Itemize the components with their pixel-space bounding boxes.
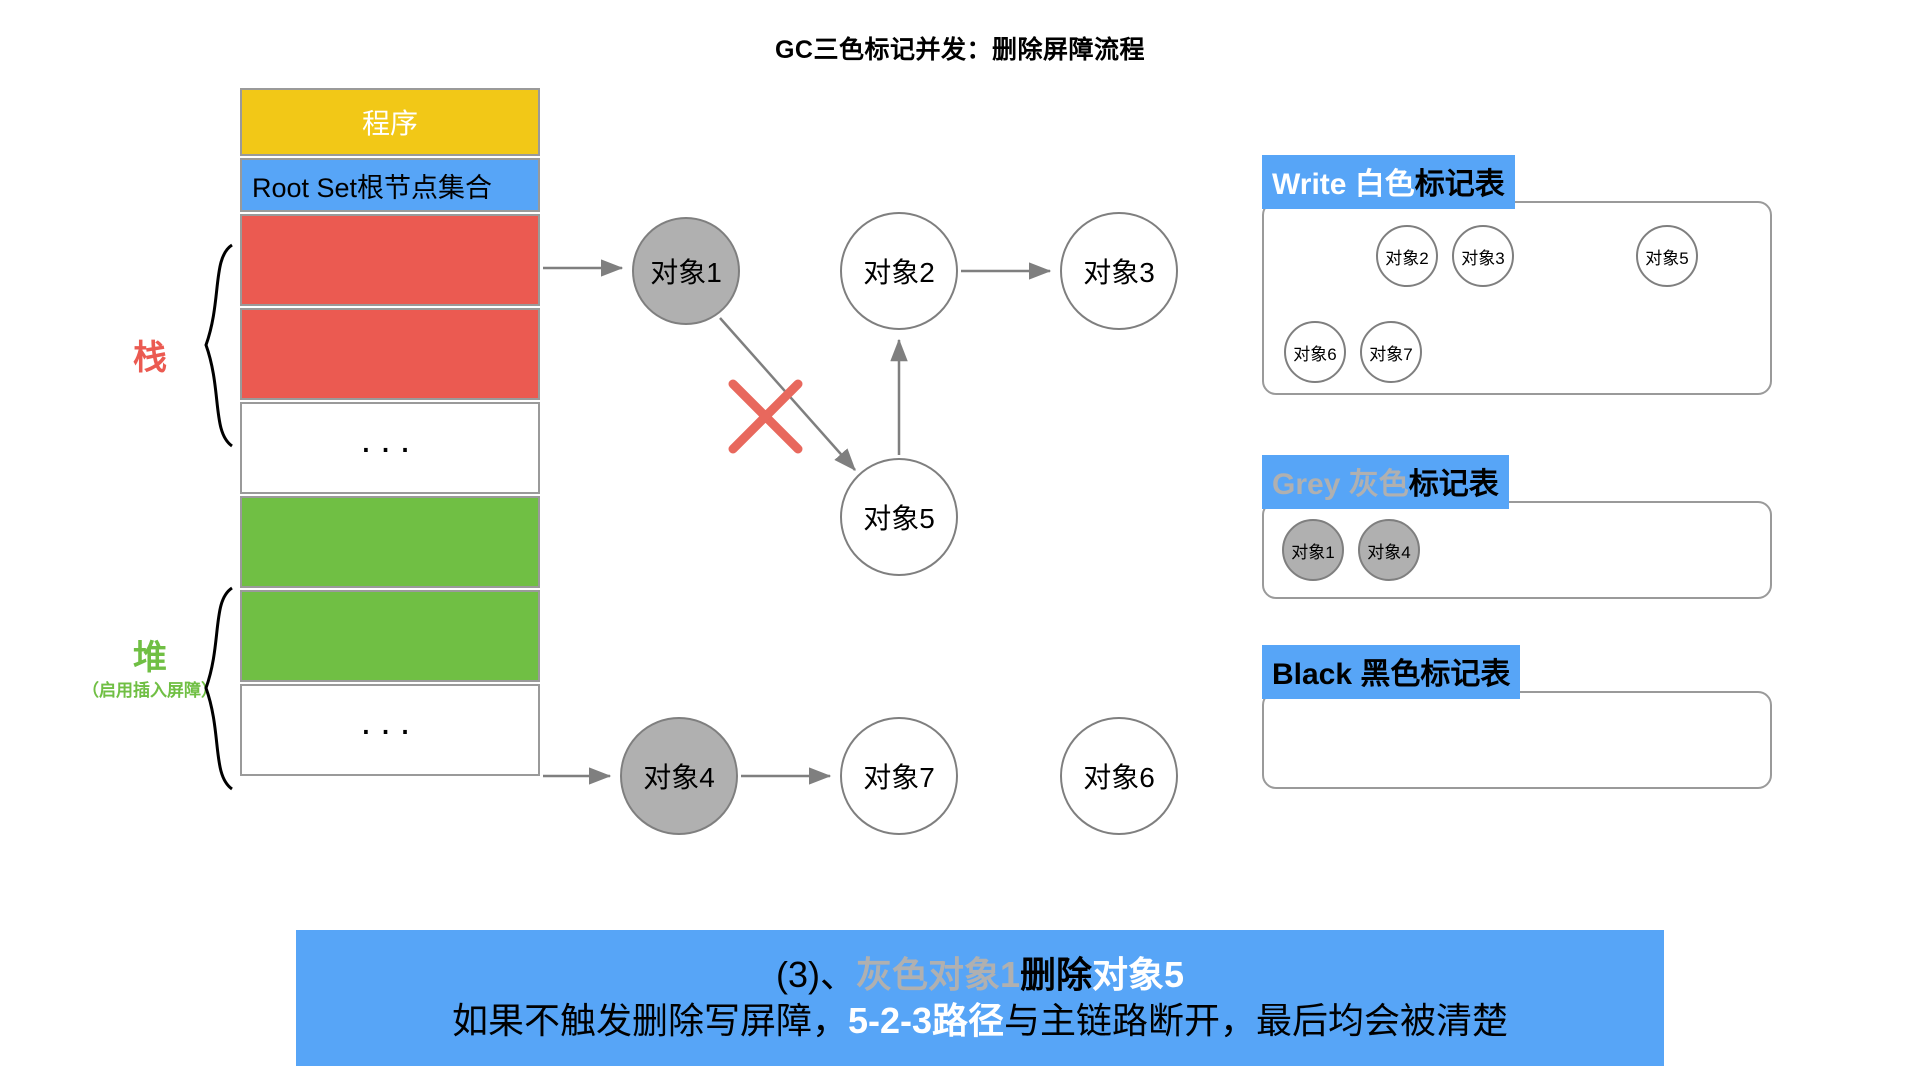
grey-table-header-color: 灰色 — [1349, 468, 1409, 501]
caption-path: 5-2-3路径 — [848, 1000, 1004, 1041]
memory-cell-rootset: Root Set根节点集合 — [240, 158, 540, 212]
white-table-header: Write 白色标记表 — [1262, 155, 1515, 209]
caption-result: 与主链路断开，最后均会被清楚 — [1004, 1000, 1508, 1041]
node-label: 对象7 — [863, 756, 935, 796]
caption-target-object: 对象5 — [1092, 954, 1184, 995]
program-label: 程序 — [362, 102, 418, 142]
grey-table-chip-object1[interactable]: 对象1 — [1282, 519, 1344, 581]
black-table-header: Black 黑色标记表 — [1262, 645, 1520, 699]
node-object-3[interactable]: 对象3 — [1060, 212, 1178, 330]
black-mark-table — [1262, 691, 1772, 789]
chip-label: 对象6 — [1293, 340, 1336, 365]
white-table-header-color: 白色 — [1355, 168, 1415, 201]
page-title: GC三色标记并发：删除屏障流程 — [0, 30, 1920, 66]
node-label: 对象2 — [863, 251, 935, 291]
memory-cell-heap-1 — [240, 496, 540, 588]
heap-sublabel: （启用插入屏障） — [40, 676, 260, 701]
black-table-header-en: Black — [1272, 658, 1360, 691]
memory-cell-stack-ellipsis: ... — [240, 402, 540, 494]
caption-condition: 如果不触发删除写屏障， — [452, 1000, 848, 1041]
node-label: 对象6 — [1083, 756, 1155, 796]
white-mark-table: 对象2 对象3 对象5 对象6 对象7 — [1262, 201, 1772, 395]
caption-action: 删除 — [1020, 954, 1092, 995]
caption-line-2: 如果不触发删除写屏障，5-2-3路径与主链路断开，最后均会被清楚 — [452, 998, 1508, 1044]
chip-label: 对象1 — [1291, 538, 1334, 563]
node-object-4[interactable]: 对象4 — [620, 717, 738, 835]
node-label: 对象1 — [650, 251, 722, 291]
memory-cell-stack-2 — [240, 308, 540, 400]
white-table-chip-object5[interactable]: 对象5 — [1636, 225, 1698, 287]
delete-cross-icon — [733, 384, 798, 449]
grey-table-header-en: Grey — [1272, 468, 1349, 501]
chip-label: 对象3 — [1461, 244, 1504, 269]
white-table-chip-object3[interactable]: 对象3 — [1452, 225, 1514, 287]
memory-cell-stack-1 — [240, 214, 540, 306]
caption-grey-object: 灰色对象1 — [856, 954, 1020, 995]
black-table-header-tail: 标记表 — [1420, 658, 1510, 691]
grey-table-chip-object4[interactable]: 对象4 — [1358, 519, 1420, 581]
grey-mark-table: 对象1 对象4 — [1262, 501, 1772, 599]
ellipsis-label-2: ... — [361, 715, 420, 744]
caption-banner: (3)、灰色对象1删除对象5 如果不触发删除写屏障，5-2-3路径与主链路断开，… — [296, 930, 1664, 1066]
heap-label: 堆 — [60, 630, 240, 679]
chip-label: 对象7 — [1369, 340, 1412, 365]
memory-column: 程序 Root Set根节点集合 ... ... — [240, 88, 540, 778]
chip-label: 对象4 — [1367, 538, 1410, 563]
node-label: 对象3 — [1083, 251, 1155, 291]
memory-cell-heap-ellipsis: ... — [240, 684, 540, 776]
chip-label: 对象2 — [1385, 244, 1428, 269]
node-object-6[interactable]: 对象6 — [1060, 717, 1178, 835]
grey-table-header-tail: 标记表 — [1409, 468, 1499, 501]
memory-cell-program: 程序 — [240, 88, 540, 156]
node-object-2[interactable]: 对象2 — [840, 212, 958, 330]
edge-object1-to-object5-deleted — [720, 318, 855, 470]
caption-step-number: (3)、 — [776, 954, 856, 995]
white-table-chip-object7[interactable]: 对象7 — [1360, 321, 1422, 383]
white-table-header-en: Write — [1272, 168, 1355, 201]
grey-table-header: Grey 灰色标记表 — [1262, 455, 1509, 509]
chip-label: 对象5 — [1645, 244, 1688, 269]
white-table-chip-object6[interactable]: 对象6 — [1284, 321, 1346, 383]
rootset-label: Root Set根节点集合 — [252, 166, 492, 205]
memory-cell-heap-2 — [240, 590, 540, 682]
white-table-header-tail: 标记表 — [1415, 168, 1505, 201]
node-object-1[interactable]: 对象1 — [632, 217, 740, 325]
node-object-7[interactable]: 对象7 — [840, 717, 958, 835]
node-object-5[interactable]: 对象5 — [840, 458, 958, 576]
node-label: 对象4 — [643, 756, 715, 796]
node-label: 对象5 — [863, 497, 935, 537]
caption-line-1: (3)、灰色对象1删除对象5 — [776, 952, 1184, 998]
black-table-header-color: 黑色 — [1360, 658, 1420, 691]
ellipsis-label: ... — [361, 433, 420, 462]
white-table-chip-object2[interactable]: 对象2 — [1376, 225, 1438, 287]
stack-label: 栈 — [90, 330, 210, 379]
